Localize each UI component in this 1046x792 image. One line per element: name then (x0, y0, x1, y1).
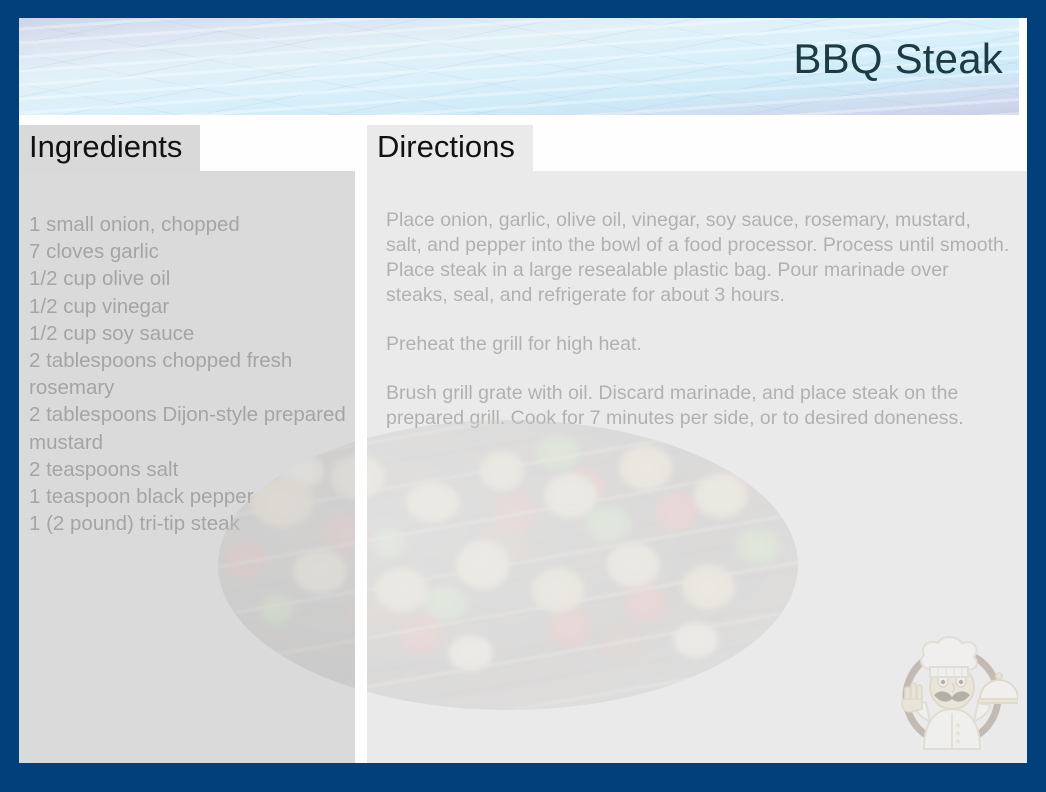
ingredients-heading: Ingredients (19, 125, 200, 171)
chef-with-platter-logo (886, 625, 1018, 757)
recipe-slide: BBQ Steak Ingredients 1 small onion, cho… (0, 0, 1046, 792)
ingredients-panel-veil (19, 171, 355, 763)
directions-heading: Directions (367, 125, 533, 171)
slide-page: BBQ Steak Ingredients 1 small onion, cho… (19, 18, 1027, 763)
column-gutter (355, 171, 367, 763)
page-title: BBQ Steak (793, 38, 1003, 80)
